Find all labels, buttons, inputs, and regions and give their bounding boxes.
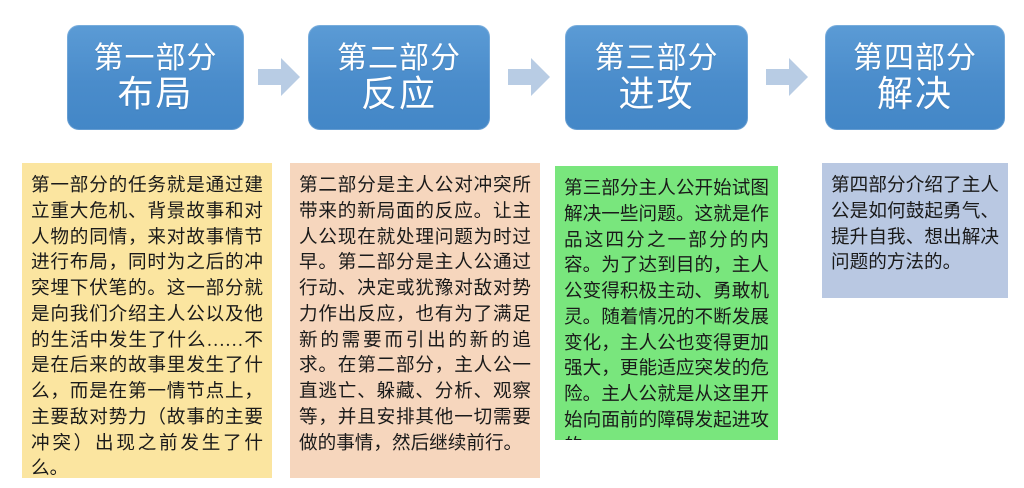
stage-description-4: 第四部分介绍了主人公是如何鼓起勇气、提升自我、想出解决问题的方法的。 — [822, 163, 1008, 298]
stage-box-4[interactable]: 第四部分 解决 — [825, 25, 1005, 130]
stage-box-2[interactable]: 第二部分 反应 — [308, 25, 490, 130]
flow-diagram: 第一部分 布局 第二部分 反应 第三部分 进攻 第四部分 解决 第一部分的任务就… — [0, 0, 1024, 488]
stage-box-1[interactable]: 第一部分 布局 — [67, 25, 244, 130]
stage-name-label-4: 解决 — [877, 76, 953, 112]
stage-name-label-1: 布局 — [117, 76, 193, 112]
right-arrow-icon — [764, 54, 810, 100]
stage-description-3: 第三部分主人公开始试图解决一些问题。这就是作品这四分之一部分的内容。为了达到目的… — [555, 166, 778, 440]
right-arrow-icon — [256, 54, 302, 100]
stage-part-label-2: 第二部分 — [337, 44, 461, 74]
stage-part-label-1: 第一部分 — [94, 44, 218, 74]
stage-description-1: 第一部分的任务就是通过建立重大危机、背景故事和对人物的同情，来对故事情节进行布局… — [22, 163, 272, 478]
stage-name-label-2: 反应 — [361, 76, 437, 112]
right-arrow-icon — [506, 54, 552, 100]
stage-part-label-4: 第四部分 — [853, 44, 977, 74]
stage-description-2: 第二部分是主人公对冲突所带来的新局面的反应。让主人公现在就处理问题为时过早。第二… — [290, 163, 540, 478]
stage-name-label-3: 进攻 — [618, 76, 694, 112]
stage-part-label-3: 第三部分 — [595, 44, 719, 74]
stage-box-3[interactable]: 第三部分 进攻 — [565, 25, 748, 130]
